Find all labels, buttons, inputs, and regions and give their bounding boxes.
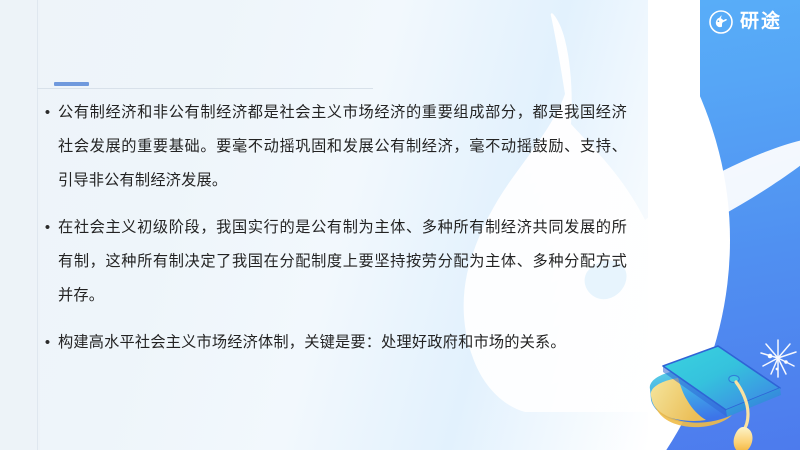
bullet-list: • 公有制经济和非公有制经济都是社会主义市场经济的重要组成部分，都是我国经济社会… — [37, 96, 627, 360]
graduation-cap-icon — [630, 326, 800, 450]
brand-logo[interactable]: 研途 — [709, 9, 782, 35]
bullet-text: 公有制经济和非公有制经济都是社会主义市场经济的重要组成部分，都是我国经济社会发展… — [58, 96, 627, 198]
brand-name: 研途 — [740, 10, 782, 34]
header-divider — [37, 88, 373, 89]
bullet-marker: • — [37, 96, 58, 130]
bullet-marker: • — [37, 326, 58, 360]
slide-canvas: 研途 • 公有制经济和非公有制经济都是社会主义市场经济的重要组成部分，都是我国经… — [0, 0, 800, 450]
bullet-text: 在社会主义初级阶段，我国实行的是公有制为主体、多种所有制经济共同发展的所有制，这… — [58, 211, 627, 313]
background-left-margin — [0, 0, 40, 450]
bullet-text: 构建高水平社会主义市场经济体制，关键是要：处理好政府和市场的关系。 — [58, 326, 627, 360]
bullet-marker: • — [37, 211, 58, 245]
list-item: • 构建高水平社会主义市场经济体制，关键是要：处理好政府和市场的关系。 — [37, 326, 627, 360]
list-item: • 在社会主义初级阶段，我国实行的是公有制为主体、多种所有制经济共同发展的所有制… — [37, 211, 627, 313]
list-item: • 公有制经济和非公有制经济都是社会主义市场经济的重要组成部分，都是我国经济社会… — [37, 96, 627, 198]
accent-bar — [54, 82, 89, 86]
unicorn-circle-icon — [709, 10, 733, 34]
